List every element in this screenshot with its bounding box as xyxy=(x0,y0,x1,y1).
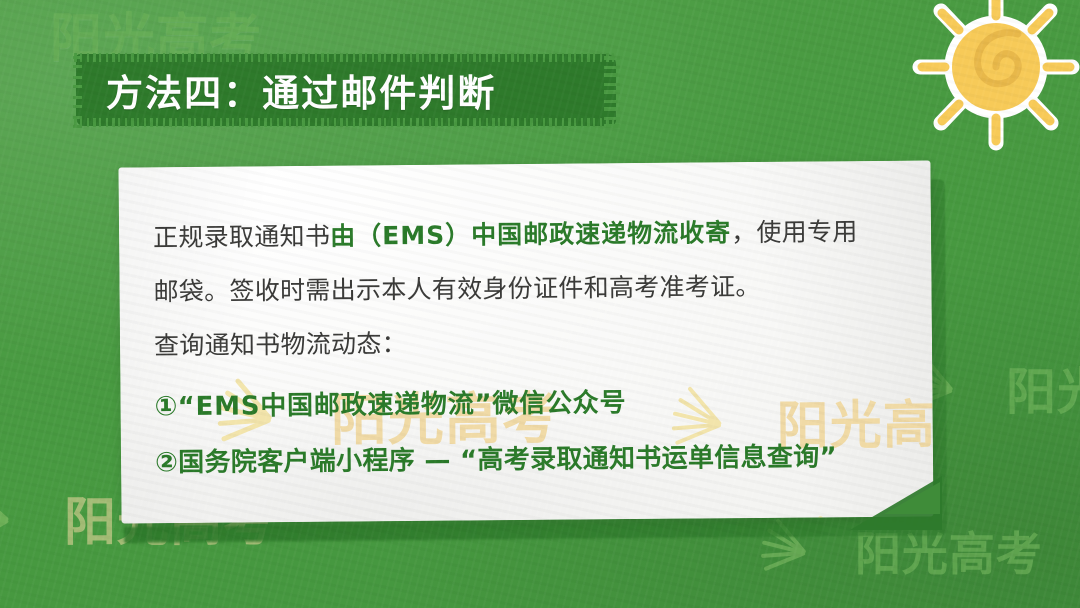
list-text-1: “EMS中国邮政速递物流”微信公众号 xyxy=(178,388,627,422)
list-text-2: 国务院客户端小程序 — “高考录取通知书运单信息查询” xyxy=(178,442,837,478)
paragraph-line-3: 查询通知书物流动态： xyxy=(154,313,892,373)
card-corner-fold xyxy=(846,470,942,530)
watermark-right-middle: 阳光高考 xyxy=(952,352,1080,424)
title-banner: 方法四：通过邮件判断 xyxy=(76,54,616,126)
line1-plain-after: ，使用专用 xyxy=(731,217,858,247)
line1-highlight: 由（EMS）中国邮政速递物流收寄 xyxy=(330,218,731,250)
line1-plain-before: 正规录取通知书 xyxy=(153,222,330,253)
watermark-label: 阳光高考 xyxy=(1006,352,1080,424)
paragraph-line-1: 正规录取通知书由（EMS）中国邮政速递物流收寄，使用专用 xyxy=(153,205,891,265)
list-marker-1: ① xyxy=(154,391,177,422)
list-marker-2: ② xyxy=(155,447,178,478)
sun-spiral-icon xyxy=(910,0,1080,154)
sun-rays-icon xyxy=(8,492,60,544)
sun-rays-icon xyxy=(0,8,46,60)
content-card: 阳光高考 阳光高考 阳光高考 阳光高考 xyxy=(118,160,933,523)
page-title: 方法四：通过邮件判断 xyxy=(76,54,616,126)
paragraph-line-2: 邮袋。签收时需出示本人有效身份证件和高考准考证。 xyxy=(153,259,891,319)
card-text-block: 正规录取通知书由（EMS）中国邮政速递物流收寄，使用专用 邮袋。签收时需出示本人… xyxy=(118,160,933,523)
list-item: ②国务院客户端小程序 — “高考录取通知书运单信息查询” xyxy=(155,429,893,491)
slide-root: 阳光高考 阳光高考 阳光高考 阳光高考 xyxy=(0,0,1080,608)
fold-highlight-triangle xyxy=(884,482,940,514)
sun-rays-icon xyxy=(952,363,1002,413)
list-item: ①“EMS中国邮政速递物流”微信公众号 xyxy=(154,373,892,435)
